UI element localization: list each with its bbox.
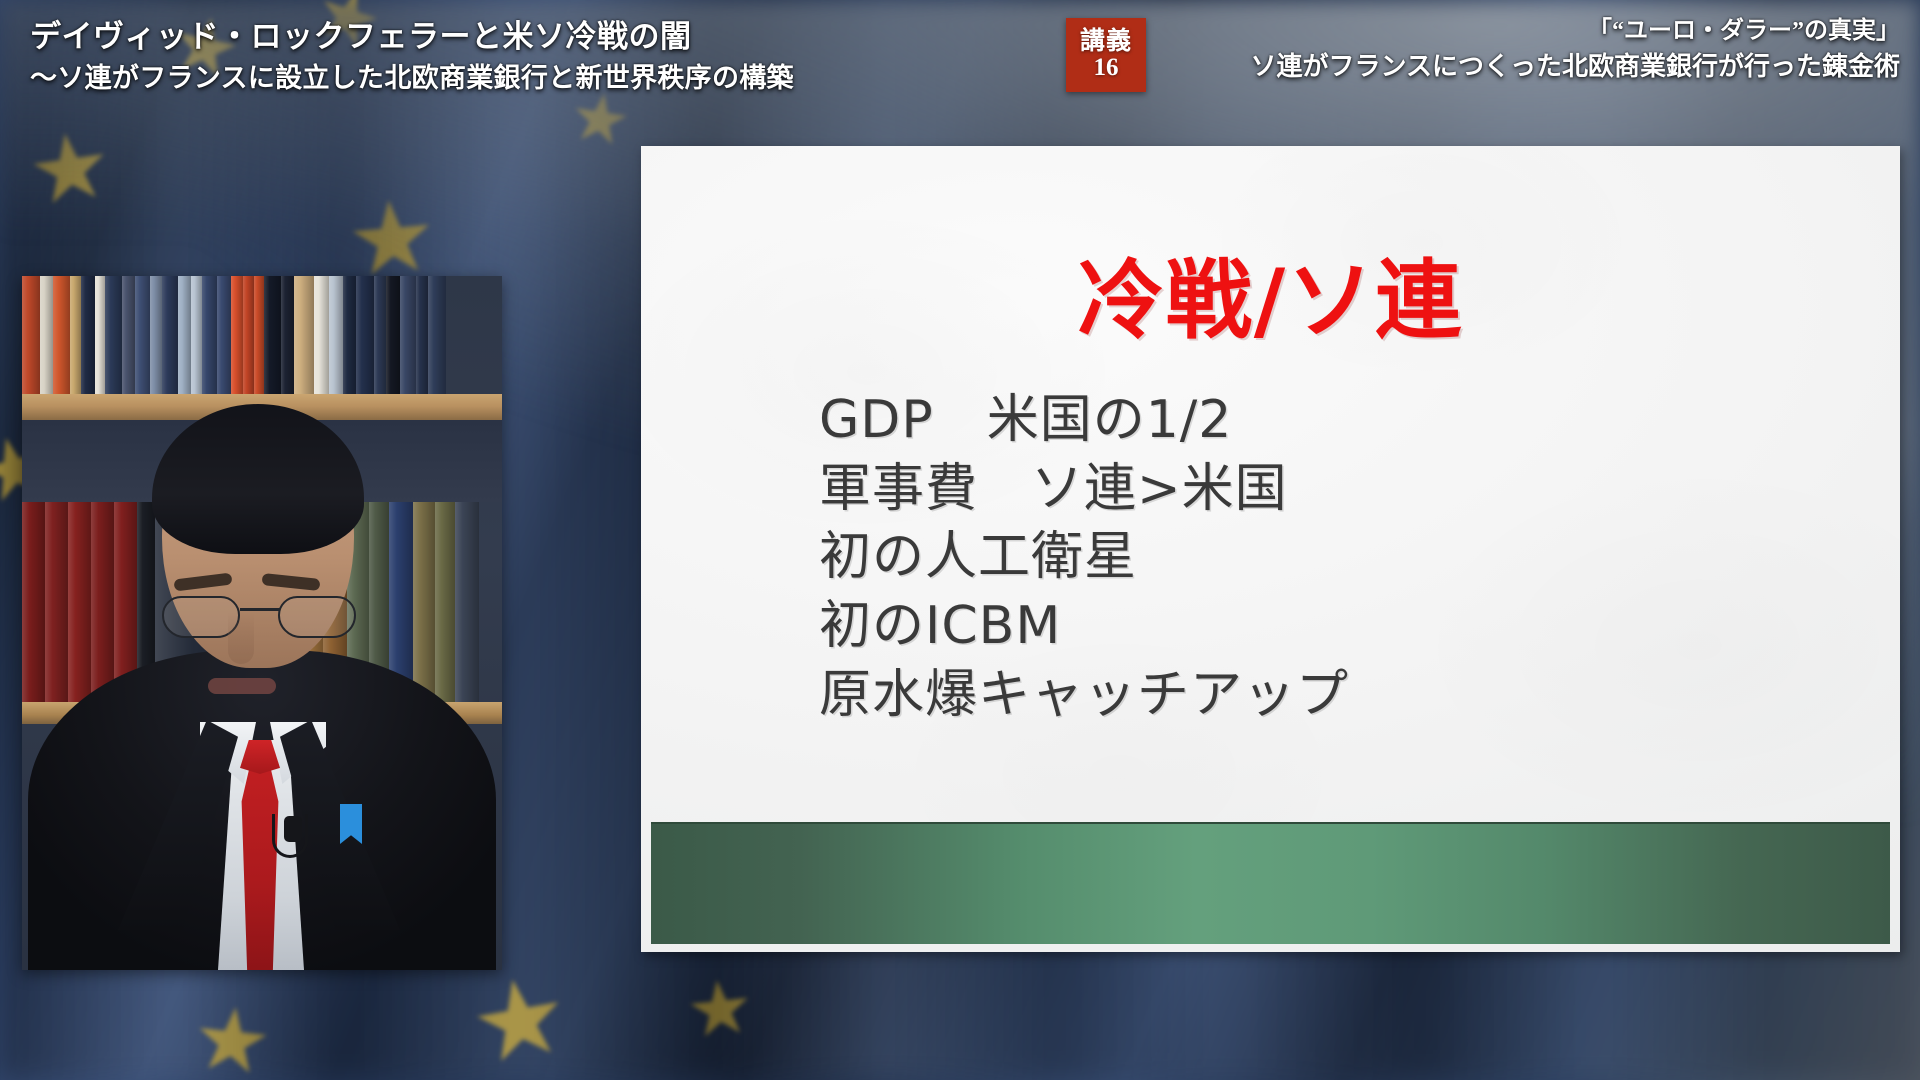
screen-root: デイヴィッド・ロックフェラーと米ソ冷戦の闇 ～ソ連がフランスに設立した北欧商業銀… xyxy=(0,0,1920,1080)
lecture-badge-number: 16 xyxy=(1094,55,1119,81)
episode-subtitle: ソ連がフランスにつくった北欧商業銀行が行った錬金術 xyxy=(1251,50,1900,84)
presenter-video-panel[interactable] xyxy=(22,276,502,970)
slide-body-line: 初のICBM xyxy=(819,592,1349,661)
program-title-line1: デイヴィッド・ロックフェラーと米ソ冷戦の闇 xyxy=(30,18,870,56)
glasses-bridge xyxy=(240,608,280,611)
lecture-badge-label: 講義 xyxy=(1080,29,1132,55)
program-title-line2: ～ソ連がフランスに設立した北欧商業銀行と新世界秩序の構築 xyxy=(30,61,870,96)
presenter-glasses xyxy=(160,596,360,642)
slide-body-line: 初の人工衛星 xyxy=(819,523,1349,592)
slide-body-line: GDP 米国の1/2 xyxy=(819,386,1349,455)
slide-title: 冷戦/ソ連 xyxy=(641,258,1900,344)
slide-body-line: 原水爆キャッチアップ xyxy=(819,661,1349,730)
slide-footer-bar xyxy=(651,822,1890,944)
slide-panel: 冷戦/ソ連 GDP 米国の1/2軍事費 ソ連>米国初の人工衛星初のICBM原水爆… xyxy=(641,146,1900,952)
lapel-mic xyxy=(284,816,302,842)
program-title: デイヴィッド・ロックフェラーと米ソ冷戦の闇 ～ソ連がフランスに設立した北欧商業銀… xyxy=(30,18,870,96)
glasses-lens-right xyxy=(278,596,356,638)
presenter-figure xyxy=(22,276,502,970)
presenter-mouth xyxy=(208,678,276,694)
series-title: 「“ユーロ・ダラー”の真実」 xyxy=(1251,16,1900,47)
lecture-number-badge: 講義 16 xyxy=(1066,18,1146,92)
presenter-nose xyxy=(228,612,254,664)
slide-body-line: 軍事費 ソ連>米国 xyxy=(819,455,1349,524)
series-header: 「“ユーロ・ダラー”の真実」 ソ連がフランスにつくった北欧商業銀行が行った錬金術 xyxy=(1251,16,1900,84)
slide-body-lines: GDP 米国の1/2軍事費 ソ連>米国初の人工衛星初のICBM原水爆キャッチアッ… xyxy=(819,386,1349,729)
presenter-hair xyxy=(152,404,364,554)
